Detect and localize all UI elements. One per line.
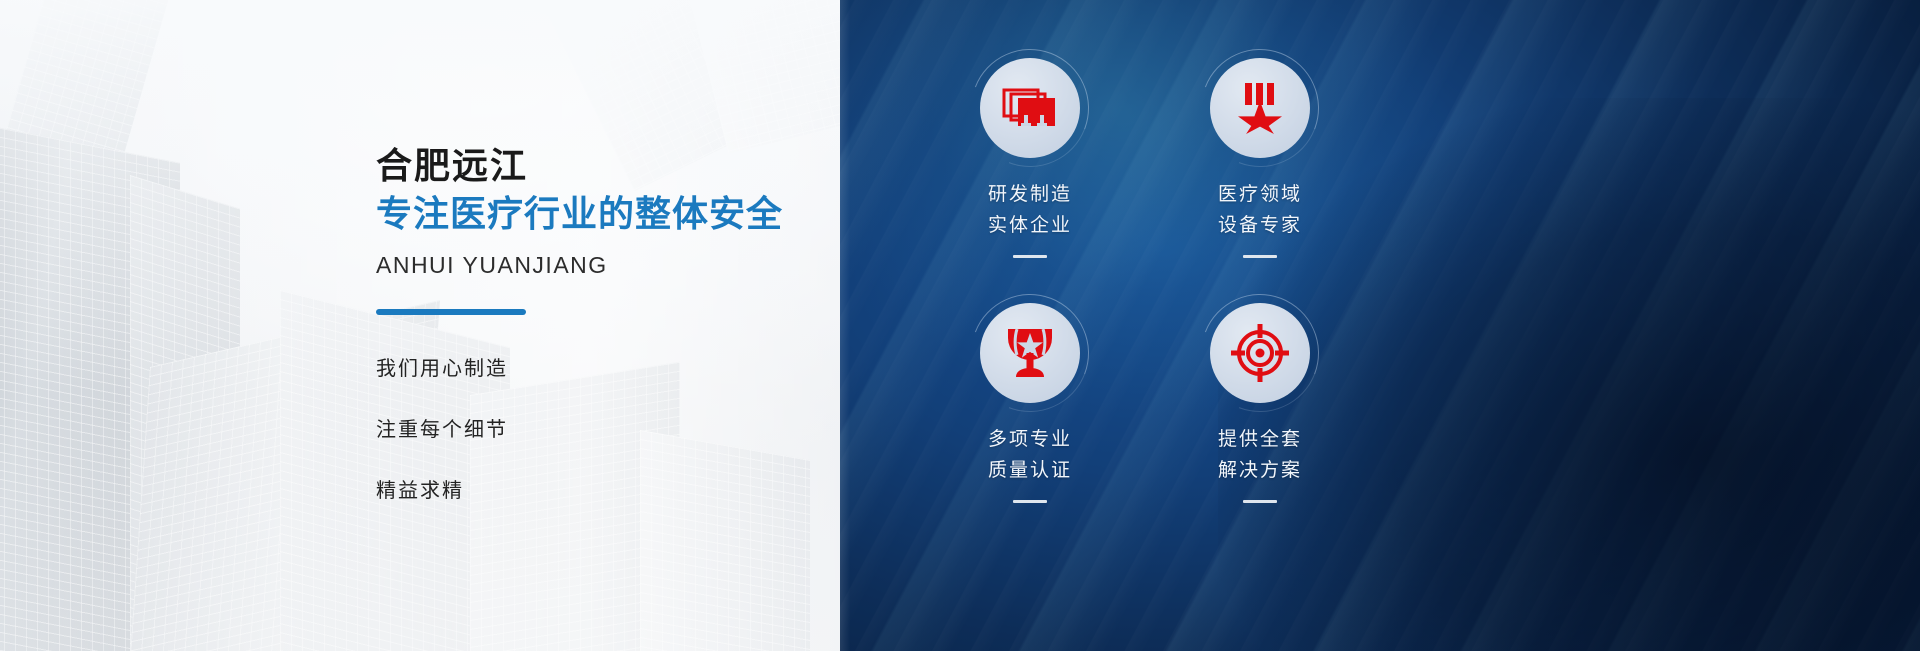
feature-card-quality-certification[interactable]: 多项专业 质量认证: [915, 303, 1145, 503]
company-title-english: ANHUI YUANJIANG: [376, 252, 806, 279]
icon-container: [980, 303, 1080, 403]
trophy-icon: [1003, 325, 1057, 381]
icon-disc: [980, 58, 1080, 158]
factory-icon: [1002, 85, 1058, 131]
icon-container: [1210, 58, 1310, 158]
feature-underline: [1013, 255, 1047, 258]
feature-card-full-solution[interactable]: 提供全套 解决方案: [1145, 303, 1375, 503]
feature-underline: [1243, 500, 1277, 503]
left-photo-panel: 合肥远江 专注医疗行业的整体安全 ANHUI YUANJIANG 我们用心制造 …: [0, 0, 840, 651]
feature-label-line1: 研发制造: [915, 180, 1145, 211]
icon-disc: [1210, 303, 1310, 403]
feature-label: 研发制造 实体企业: [915, 180, 1145, 242]
feature-underline: [1243, 255, 1277, 258]
feature-label-line2: 质量认证: [915, 456, 1145, 487]
right-feature-panel: 研发制造 实体企业: [840, 0, 1920, 651]
icon-container: [980, 58, 1080, 158]
headline-block: 合肥远江 专注医疗行业的整体安全 ANHUI YUANJIANG 我们用心制造 …: [376, 144, 806, 542]
feature-label-line1: 提供全套: [1145, 425, 1375, 456]
feature-underline: [1013, 500, 1047, 503]
icon-disc: [980, 303, 1080, 403]
feature-label: 提供全套 解决方案: [1145, 425, 1375, 487]
feature-label-line2: 设备专家: [1145, 211, 1375, 242]
slogan-list: 我们用心制造 注重每个细节 精益求精: [376, 359, 806, 501]
target-icon: [1231, 324, 1289, 382]
slogan-item: 我们用心制造: [376, 359, 806, 379]
feature-card-medical-expert[interactable]: 医疗领域 设备专家: [1145, 58, 1375, 258]
feature-label-line2: 解决方案: [1145, 456, 1375, 487]
icon-container: [1210, 303, 1310, 403]
accent-divider: [376, 309, 526, 315]
feature-card-rd-manufacturing[interactable]: 研发制造 实体企业: [915, 58, 1145, 258]
company-subtitle: 专注医疗行业的整体安全: [376, 191, 806, 236]
medal-icon: [1236, 81, 1284, 135]
feature-grid: 研发制造 实体企业: [840, 0, 1920, 651]
slogan-item: 精益求精: [376, 481, 806, 501]
feature-label: 多项专业 质量认证: [915, 425, 1145, 487]
feature-label-line1: 医疗领域: [1145, 180, 1375, 211]
slogan-item: 注重每个细节: [376, 420, 806, 440]
company-title: 合肥远江: [376, 144, 806, 187]
icon-disc: [1210, 58, 1310, 158]
feature-label: 医疗领域 设备专家: [1145, 180, 1375, 242]
promo-banner: 合肥远江 专注医疗行业的整体安全 ANHUI YUANJIANG 我们用心制造 …: [0, 0, 1920, 651]
feature-label-line2: 实体企业: [915, 211, 1145, 242]
feature-label-line1: 多项专业: [915, 425, 1145, 456]
